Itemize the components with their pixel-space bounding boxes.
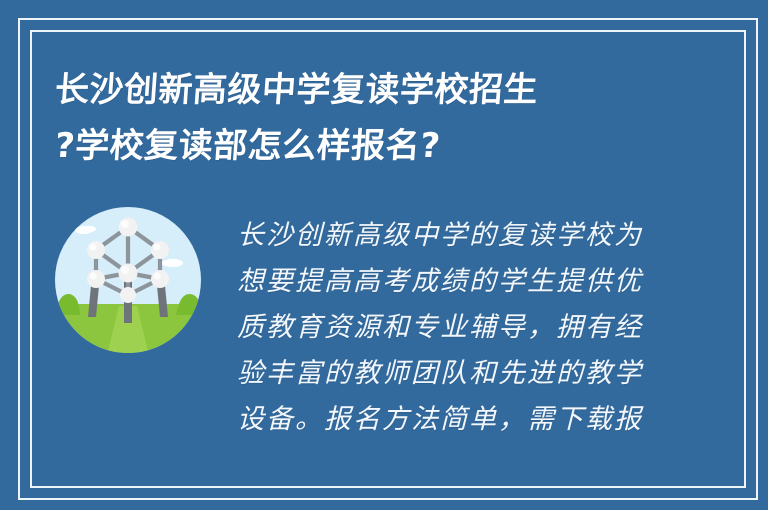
body-line: 设备。报名方法简单，需下载报 [237,397,713,443]
body-line: 质教育资源和专业辅导，拥有经 [237,305,713,351]
body-line: 想要提高高考成绩的学生提供优 [237,259,713,305]
content-row: 长沙创新高级中学的复读学校为 想要提高高考成绩的学生提供优 质教育资源和专业辅导… [55,205,713,443]
body-line: 长沙创新高级中学的复读学校为 [237,213,713,259]
title-line-2: ?学校复读部怎么样报名? [53,118,697,174]
body-line: 验丰富的教师团队和先进的教学 [237,351,713,397]
title-line-1: 长沙创新高级中学复读学校招生 [53,62,697,118]
page-title: 长沙创新高级中学复读学校招生 ?学校复读部怎么样报名? [55,62,695,174]
body-paragraph: 长沙创新高级中学的复读学校为 想要提高高考成绩的学生提供优 质教育资源和专业辅导… [237,205,713,443]
poster-canvas: 长沙创新高级中学复读学校招生 ?学校复读部怎么样报名? [0,0,768,510]
atomium-monument-icon [55,205,201,355]
